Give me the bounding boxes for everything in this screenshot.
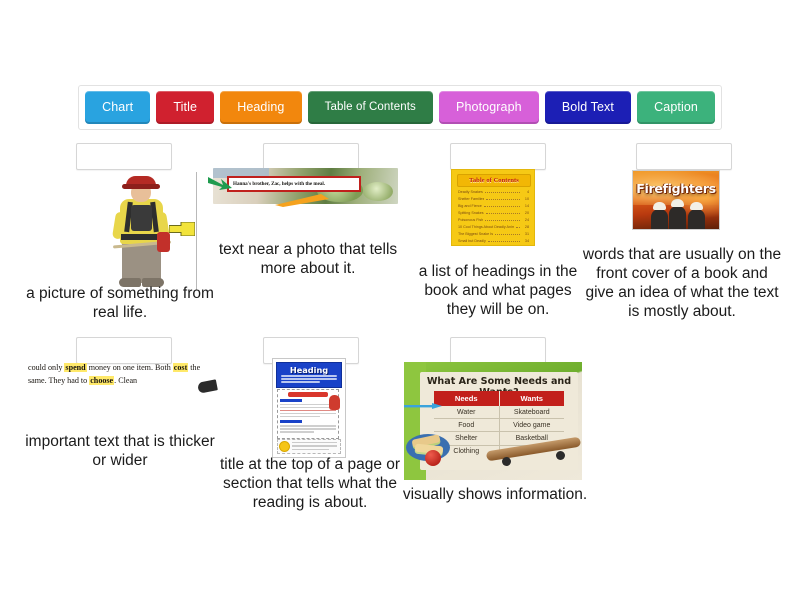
lightbulb-icon [280,442,289,451]
yellow-arrow-icon [169,222,195,236]
worksheet-tip-box [277,439,341,454]
description-chart: visually shows information. [400,485,590,504]
toc-entry: Deadly Snakes 4 [458,188,529,195]
drop-zone-caption[interactable] [263,143,359,170]
description-table-of-contents: a list of headings in the book and what … [418,262,578,319]
toc-entry: Big and Fierce 14 [458,202,529,209]
toc-entry: 10 Cool Things About Deadly Animals 28 [458,223,529,230]
toc-title-banner: Table of Contents [457,174,531,187]
toc-entry: Poisonous Fish 24 [458,216,529,223]
chart-row: Water Skateboard [434,406,564,419]
chart-cell: Skateboard [500,406,565,418]
answer-tile-label: Table of Contents [325,101,416,113]
toc-title-text: Table of Contents [469,177,519,184]
description-title: words that are usually on the front cove… [582,245,782,321]
worker-helmet [126,176,156,189]
caption-photo-strip: Hanna's brother, Zac, helps with the mea… [213,168,398,204]
toc-entry: Small but Deadly 34 [458,237,529,244]
green-arrow-icon [208,174,232,194]
answer-tile-label: Caption [654,101,698,114]
answer-tile-bold-text[interactable]: Bold Text [545,91,631,124]
description-caption: text near a photo that tells more about … [213,240,403,278]
orange-arrow-icon [275,194,329,207]
food-plate-illustration [406,430,452,464]
chart-column-header: Wants [500,391,565,406]
caption-text-box: Hanna's brother, Zac, helps with the mea… [227,176,361,192]
drop-zone-bold-text[interactable] [76,337,172,364]
book-title-text: Firefighters [633,181,719,196]
heading-worksheet-image: Heading [272,358,346,458]
bold-text-passage: could only spend money on one item. Both… [28,362,213,396]
bold-word: spend [64,363,86,372]
answer-tile-label: Chart [102,101,133,114]
caption-text: Hanna's brother, Zac, helps with the mea… [233,181,325,187]
word-bank: Chart Title Heading Table of Contents Ph… [78,85,722,130]
chart-row: Food Video game [434,419,564,432]
worker-belt [121,234,162,240]
chart-cell: Video game [500,419,565,431]
answer-tile-caption[interactable]: Caption [637,91,715,124]
blue-arrow-icon [404,398,442,408]
chart-cell: Water [434,406,500,418]
needs-wants-chart-image: What Are Some Needs and Wants? Needs Wan… [404,362,582,480]
heading-banner-text: Heading [277,365,341,375]
answer-tile-photograph[interactable]: Photograph [439,91,539,124]
drop-zone-chart[interactable] [450,337,546,364]
description-photograph: a picture of something from real life. [20,284,220,322]
drop-zone-table-of-contents[interactable] [450,143,546,170]
description-bold-text: important text that is thicker or wider [20,432,220,470]
skateboard-illustration [486,442,581,472]
activity-canvas: Chart Title Heading Table of Contents Ph… [0,0,800,600]
answer-tile-label: Photograph [456,101,522,114]
chart-column-header: Needs [434,391,500,406]
bold-word: choose [89,376,114,385]
heading-banner: Heading [276,362,342,388]
answer-tile-heading[interactable]: Heading [220,91,301,124]
answer-tile-title[interactable]: Title [156,91,214,124]
photograph-worker-image [95,172,205,294]
toc-entry-list: Deadly Snakes 4 Shelter Families 10 Big … [458,188,529,244]
book-cover-image: Firefighters [632,170,720,230]
drop-zone-photograph[interactable] [76,143,172,170]
drop-zone-title[interactable] [636,143,732,170]
page-corner [197,379,218,393]
frog-illustration [329,395,340,410]
table-of-contents-image: Table of Contents Deadly Snakes 4 Shelte… [452,170,534,245]
toc-entry: The Biggest Snake Is 31 [458,230,529,237]
answer-tile-table-of-contents[interactable]: Table of Contents [308,91,433,124]
toc-entry: Shelter Families 10 [458,195,529,202]
image-rule [196,172,197,290]
answer-tile-chart[interactable]: Chart [85,91,150,124]
description-heading: title at the top of a page or section th… [210,455,410,512]
toc-entry: Spitting Snakes 20 [458,209,529,216]
answer-tile-label: Heading [237,101,284,114]
worker-vest [131,205,152,231]
answer-tile-label: Bold Text [562,101,614,114]
answer-tile-label: Title [173,101,197,114]
bold-word: cost [173,363,188,372]
chart-header-row: Needs Wants [434,391,564,406]
